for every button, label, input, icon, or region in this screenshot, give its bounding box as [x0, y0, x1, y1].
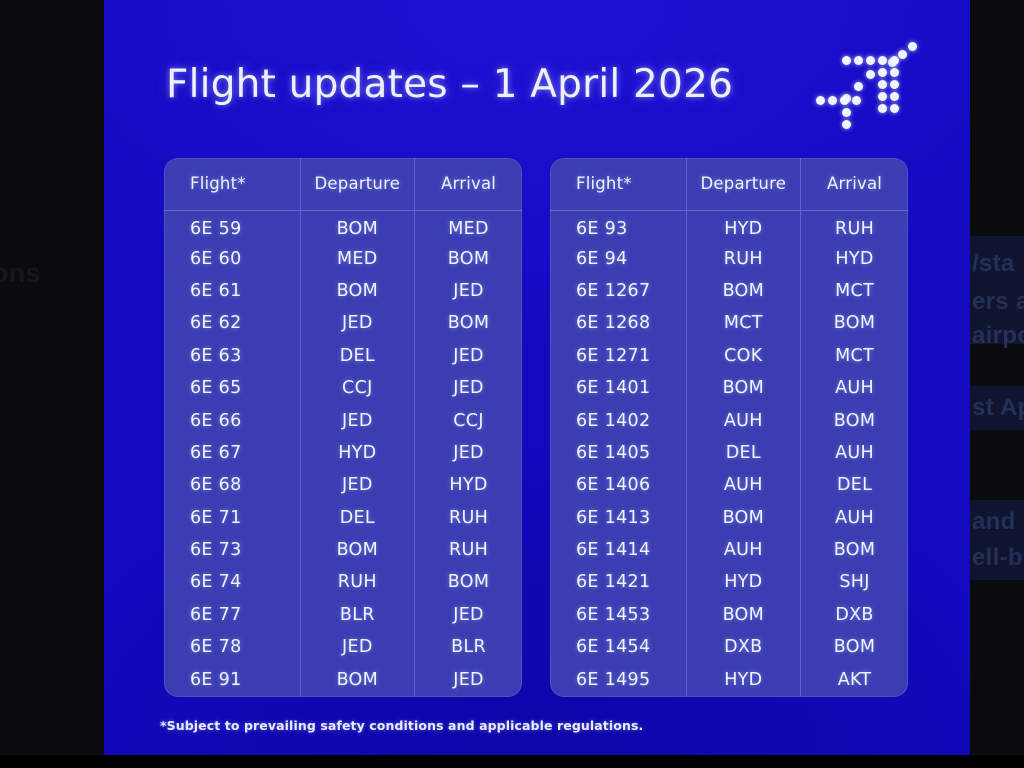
- table-row: 6E 71DELRUH: [164, 502, 522, 534]
- cell-arrival: JED: [415, 663, 522, 695]
- cell-arrival: MED: [415, 210, 522, 242]
- cell-arrival: MCT: [801, 275, 908, 307]
- cell-departure: BOM: [300, 210, 415, 242]
- cell-arrival: RUH: [415, 534, 522, 566]
- cell-flight: 6E 1401: [550, 372, 686, 404]
- cell-departure: BOM: [300, 534, 415, 566]
- table-row: 6E 61BOMJED: [164, 275, 522, 307]
- cell-departure: BOM: [300, 275, 415, 307]
- page-title: Flight updates – 1 April 2026: [166, 62, 733, 107]
- table-row: 6E 1495HYDAKT: [550, 663, 908, 695]
- cell-flight: 6E 1413: [550, 502, 686, 534]
- cell-arrival: AKT: [801, 663, 908, 695]
- cell-flight: 6E 1421: [550, 566, 686, 598]
- logo-dot: [842, 56, 851, 65]
- table-body-left: 6E 59BOMMED6E 60MEDBOM6E 61BOMJED6E 62JE…: [164, 210, 522, 696]
- cell-arrival: JED: [415, 599, 522, 631]
- cell-departure: JED: [300, 469, 415, 501]
- cell-departure: JED: [300, 631, 415, 663]
- table-row: 6E 1401BOMAUH: [550, 372, 908, 404]
- cell-arrival: BOM: [801, 307, 908, 339]
- cell-flight: 6E 60: [164, 242, 300, 274]
- cell-flight: 6E 94: [550, 242, 686, 274]
- cell-arrival: CCJ: [415, 404, 522, 436]
- table-row: 6E 93HYDRUH: [550, 210, 908, 242]
- cell-flight: 6E 74: [164, 566, 300, 598]
- letterbox-bar-bottom: [0, 755, 1024, 768]
- table-row: 6E 1268MCTBOM: [550, 307, 908, 339]
- cell-departure: AUH: [686, 534, 801, 566]
- table-row: 6E 78JEDBLR: [164, 631, 522, 663]
- cell-arrival: AUH: [801, 372, 908, 404]
- cell-departure: BOM: [686, 372, 801, 404]
- background-band-2: [968, 386, 1024, 430]
- table-row: 6E 77BLRJED: [164, 599, 522, 631]
- cell-flight: 6E 66: [164, 404, 300, 436]
- table-row: 6E 73BOMRUH: [164, 534, 522, 566]
- cell-flight: 6E 73: [164, 534, 300, 566]
- cell-departure: HYD: [686, 210, 801, 242]
- cell-arrival: BOM: [801, 534, 908, 566]
- cell-flight: 6E 78: [164, 631, 300, 663]
- table-row: 6E 1454DXBBOM: [550, 631, 908, 663]
- logo-dot: [854, 82, 863, 91]
- cell-arrival: RUH: [801, 210, 908, 242]
- cell-arrival: HYD: [801, 242, 908, 274]
- cell-flight: 6E 91: [164, 663, 300, 695]
- cell-flight: 6E 71: [164, 502, 300, 534]
- table-row: 6E 59BOMMED: [164, 210, 522, 242]
- cell-flight: 6E 1453: [550, 599, 686, 631]
- logo-dot: [854, 56, 863, 65]
- cell-flight: 6E 62: [164, 307, 300, 339]
- cell-arrival: AUH: [801, 437, 908, 469]
- cell-arrival: SHJ: [801, 566, 908, 598]
- cell-flight: 6E 1267: [550, 275, 686, 307]
- table-row: 6E 60MEDBOM: [164, 242, 522, 274]
- column-header-flight: Flight*: [164, 158, 300, 210]
- cell-departure: HYD: [300, 437, 415, 469]
- logo-dot: [842, 120, 851, 129]
- cell-arrival: BOM: [415, 566, 522, 598]
- cell-flight: 6E 65: [164, 372, 300, 404]
- cell-arrival: HYD: [415, 469, 522, 501]
- cell-arrival: BOM: [415, 307, 522, 339]
- logo-dot: [852, 96, 861, 105]
- cell-departure: BLR: [300, 599, 415, 631]
- cell-flight: 6E 61: [164, 275, 300, 307]
- table-row: 6E 1453BOMDXB: [550, 599, 908, 631]
- table-row: 6E 67HYDJED: [164, 437, 522, 469]
- table-row: 6E 94RUHHYD: [550, 242, 908, 274]
- logo-dot: [890, 92, 899, 101]
- flight-table-left: Flight* Departure Arrival 6E 59BOMMED6E …: [164, 158, 522, 696]
- cell-departure: BOM: [686, 275, 801, 307]
- cell-arrival: BOM: [801, 404, 908, 436]
- column-header-arrival: Arrival: [415, 158, 522, 210]
- background-band-1: [968, 236, 1024, 344]
- cell-flight: 6E 1414: [550, 534, 686, 566]
- table-row: 6E 1406AUHDEL: [550, 469, 908, 501]
- cell-arrival: JED: [415, 437, 522, 469]
- cell-departure: BOM: [300, 663, 415, 695]
- cell-arrival: JED: [415, 275, 522, 307]
- table-row: 6E 68JEDHYD: [164, 469, 522, 501]
- cell-arrival: MCT: [801, 340, 908, 372]
- cell-departure: CCJ: [300, 372, 415, 404]
- cell-flight: 6E 93: [550, 210, 686, 242]
- logo-dot: [878, 92, 887, 101]
- cell-departure: DEL: [300, 340, 415, 372]
- column-header-arrival: Arrival: [801, 158, 908, 210]
- logo-dot: [840, 96, 849, 105]
- presentation-slide: Flight updates – 1 April 2026 Flight* De…: [104, 0, 970, 755]
- cell-departure: COK: [686, 340, 801, 372]
- table-row: 6E 66JEDCCJ: [164, 404, 522, 436]
- cell-departure: RUH: [300, 566, 415, 598]
- cell-flight: 6E 1268: [550, 307, 686, 339]
- cell-flight: 6E 67: [164, 437, 300, 469]
- cell-arrival: JED: [415, 372, 522, 404]
- cell-arrival: JED: [415, 340, 522, 372]
- logo-dot: [878, 104, 887, 113]
- footnote: *Subject to prevailing safety conditions…: [160, 718, 643, 733]
- logo-dot: [898, 50, 907, 59]
- cell-departure: BOM: [686, 599, 801, 631]
- cell-flight: 6E 63: [164, 340, 300, 372]
- cell-departure: AUH: [686, 469, 801, 501]
- cell-departure: DEL: [686, 437, 801, 469]
- column-header-flight: Flight*: [550, 158, 686, 210]
- table-row: 6E 1267BOMMCT: [550, 275, 908, 307]
- logo-dot: [842, 108, 851, 117]
- table-row: 6E 1413BOMAUH: [550, 502, 908, 534]
- logo-dot: [890, 56, 899, 65]
- cell-flight: 6E 1402: [550, 404, 686, 436]
- cell-flight: 6E 1406: [550, 469, 686, 501]
- cell-departure: DXB: [686, 631, 801, 663]
- cell-departure: JED: [300, 404, 415, 436]
- background-band-3: [968, 500, 1024, 580]
- cell-flight: 6E 77: [164, 599, 300, 631]
- column-header-departure: Departure: [686, 158, 801, 210]
- table-body-right: 6E 93HYDRUH6E 94RUHHYD6E 1267BOMMCT6E 12…: [550, 210, 908, 696]
- flight-table-right: Flight* Departure Arrival 6E 93HYDRUH6E …: [550, 158, 908, 696]
- cell-departure: AUH: [686, 404, 801, 436]
- table-header-left: Flight* Departure Arrival: [164, 158, 522, 210]
- table-row: 6E 1421HYDSHJ: [550, 566, 908, 598]
- cell-departure: MED: [300, 242, 415, 274]
- logo-dot: [866, 56, 875, 65]
- cell-flight: 6E 68: [164, 469, 300, 501]
- table-row: 6E 1405DELAUH: [550, 437, 908, 469]
- cell-departure: HYD: [686, 566, 801, 598]
- background-text-left: ons: [0, 258, 41, 289]
- table-row: 6E 63DELJED: [164, 340, 522, 372]
- cell-departure: JED: [300, 307, 415, 339]
- cell-arrival: AUH: [801, 502, 908, 534]
- table-row: 6E 1271COKMCT: [550, 340, 908, 372]
- logo-dot: [878, 56, 887, 65]
- cell-departure: DEL: [300, 502, 415, 534]
- cell-flight: 6E 1271: [550, 340, 686, 372]
- cell-departure: BOM: [686, 502, 801, 534]
- table-header-row: Flight* Departure Arrival: [164, 158, 522, 210]
- logo-dot: [828, 96, 837, 105]
- cell-flight: 6E 1454: [550, 631, 686, 663]
- indigo-airline-logo: [812, 40, 920, 128]
- table-row: 6E 1402AUHBOM: [550, 404, 908, 436]
- table-row: 6E 65CCJJED: [164, 372, 522, 404]
- logo-dot: [890, 104, 899, 113]
- cell-flight: 6E 1405: [550, 437, 686, 469]
- screenshot-canvas: ons /sta ers a airpo st Ap and ell-b Fli…: [0, 0, 1024, 768]
- flight-table-card-left: Flight* Departure Arrival 6E 59BOMMED6E …: [164, 158, 522, 697]
- cell-arrival: BLR: [415, 631, 522, 663]
- logo-dot: [890, 80, 899, 89]
- table-header-right: Flight* Departure Arrival: [550, 158, 908, 210]
- cell-departure: RUH: [686, 242, 801, 274]
- cell-departure: MCT: [686, 307, 801, 339]
- logo-dot: [890, 68, 899, 77]
- logo-dot: [878, 68, 887, 77]
- table-header-row: Flight* Departure Arrival: [550, 158, 908, 210]
- cell-flight: 6E 1495: [550, 663, 686, 695]
- table-row: 6E 62JEDBOM: [164, 307, 522, 339]
- logo-dot: [816, 96, 825, 105]
- cell-arrival: DEL: [801, 469, 908, 501]
- cell-arrival: BOM: [801, 631, 908, 663]
- cell-flight: 6E 59: [164, 210, 300, 242]
- table-row: 6E 74RUHBOM: [164, 566, 522, 598]
- cell-arrival: BOM: [415, 242, 522, 274]
- table-row: 6E 91BOMJED: [164, 663, 522, 695]
- cell-arrival: DXB: [801, 599, 908, 631]
- column-header-departure: Departure: [300, 158, 415, 210]
- cell-arrival: RUH: [415, 502, 522, 534]
- logo-dot: [908, 42, 917, 51]
- logo-dot: [878, 80, 887, 89]
- table-row: 6E 1414AUHBOM: [550, 534, 908, 566]
- cell-departure: HYD: [686, 663, 801, 695]
- logo-dot: [866, 70, 875, 79]
- flight-table-card-right: Flight* Departure Arrival 6E 93HYDRUH6E …: [550, 158, 908, 697]
